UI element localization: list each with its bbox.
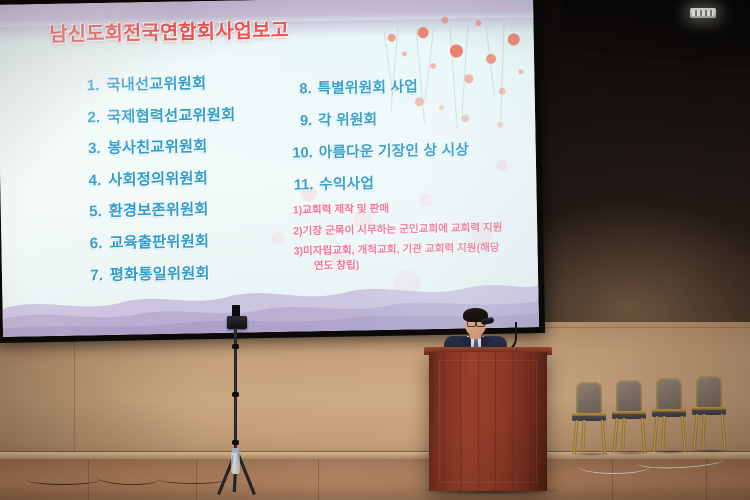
list-item: 8.특별위원회 사업: [286, 73, 536, 99]
list-item-number: 1.: [76, 77, 99, 94]
list-item-number: 3.: [78, 140, 101, 157]
sub-list-item: 2)기장 군목이 시무하는 군인교회에 교회력 지원: [293, 219, 539, 239]
list-item-label: 아름다운 기장인 상 시상: [319, 138, 470, 162]
list-item-label: 봉사친교위원회: [107, 134, 207, 158]
list-item-number: 6.: [79, 235, 102, 252]
list-item-label: 각 위원회: [318, 108, 378, 130]
slide-right-column: 8.특별위원회 사업 9.각 위원회 10.아름다운 기장인 상 시상 11.수…: [286, 73, 538, 206]
podium-front-panel: [439, 360, 537, 483]
floor-cable: [26, 474, 100, 485]
list-item: 9.각 위원회: [287, 105, 537, 131]
list-item-number: 5.: [79, 203, 102, 220]
presentation-slide: 남신도회전국연합회사업보고 1.국내선교위원회 2.국제협력선교위원회 3.봉사…: [0, 0, 539, 337]
projection-screen: 남신도회전국연합회사업보고 1.국내선교위원회 2.국제협력선교위원회 3.봉사…: [0, 0, 539, 337]
sub-item-label: 교회력 제작 및 판매: [302, 203, 389, 217]
photo-scene: 남신도회전국연합회사업보고 1.국내선교위원회 2.국제협력선교위원회 3.봉사…: [0, 0, 750, 500]
slide-bottom-wave: [2, 265, 539, 337]
list-item-number: 8.: [286, 81, 311, 97]
slide-title: 남신도회전국연합회사업보고: [49, 14, 289, 47]
sub-list-item: 1)교회력 제작 및 판매: [293, 199, 539, 219]
sub-item-label: 기장 군목이 시무하는 군인교회에 교회력 지원: [303, 221, 503, 237]
list-item: 11.수익사업: [288, 169, 538, 195]
list-item-label: 국내선교위원회: [106, 71, 206, 95]
water-bottle: [231, 452, 240, 474]
list-item-label: 특별위원회 사업: [317, 75, 418, 98]
slide-left-column: 1.국내선교위원회 2.국제협력선교위원회 3.봉사친교위원회 4.사회정의위원…: [76, 70, 295, 295]
podium: [429, 352, 547, 491]
list-item-label: 환경보존위원회: [109, 197, 209, 221]
list-item: 5.환경보존위원회: [79, 196, 294, 222]
list-item-label: 수익사업: [319, 172, 374, 194]
list-item: 4.사회정의위원회: [78, 164, 293, 190]
list-item-number: 11.: [288, 177, 313, 193]
list-item-label: 국제협력선교위원회: [107, 102, 236, 126]
list-item: 3.봉사친교위원회: [77, 133, 292, 159]
list-item: 1.국내선교위원회: [76, 70, 291, 96]
list-item-number: 10.: [288, 145, 313, 161]
list-item: 6.교육출판위원회: [79, 228, 294, 254]
water-bottle-cap: [232, 448, 239, 453]
list-item-number: 9.: [287, 113, 312, 129]
list-item: 10.아름다운 기장인 상 시상: [288, 137, 538, 163]
recessed-ceiling-light-icon: [690, 8, 716, 18]
list-item: 2.국제협력선교위원회: [77, 101, 292, 127]
list-item-label: 사회정의위원회: [108, 166, 208, 190]
sub-item-label: 미자립교회, 개척교회, 기관 교회력 지원(해당: [303, 242, 500, 258]
list-item-number: 4.: [78, 172, 101, 189]
list-item-number: 2.: [77, 109, 100, 126]
floor-cable: [158, 474, 228, 484]
list-item-label: 교육출판위원회: [109, 229, 209, 253]
